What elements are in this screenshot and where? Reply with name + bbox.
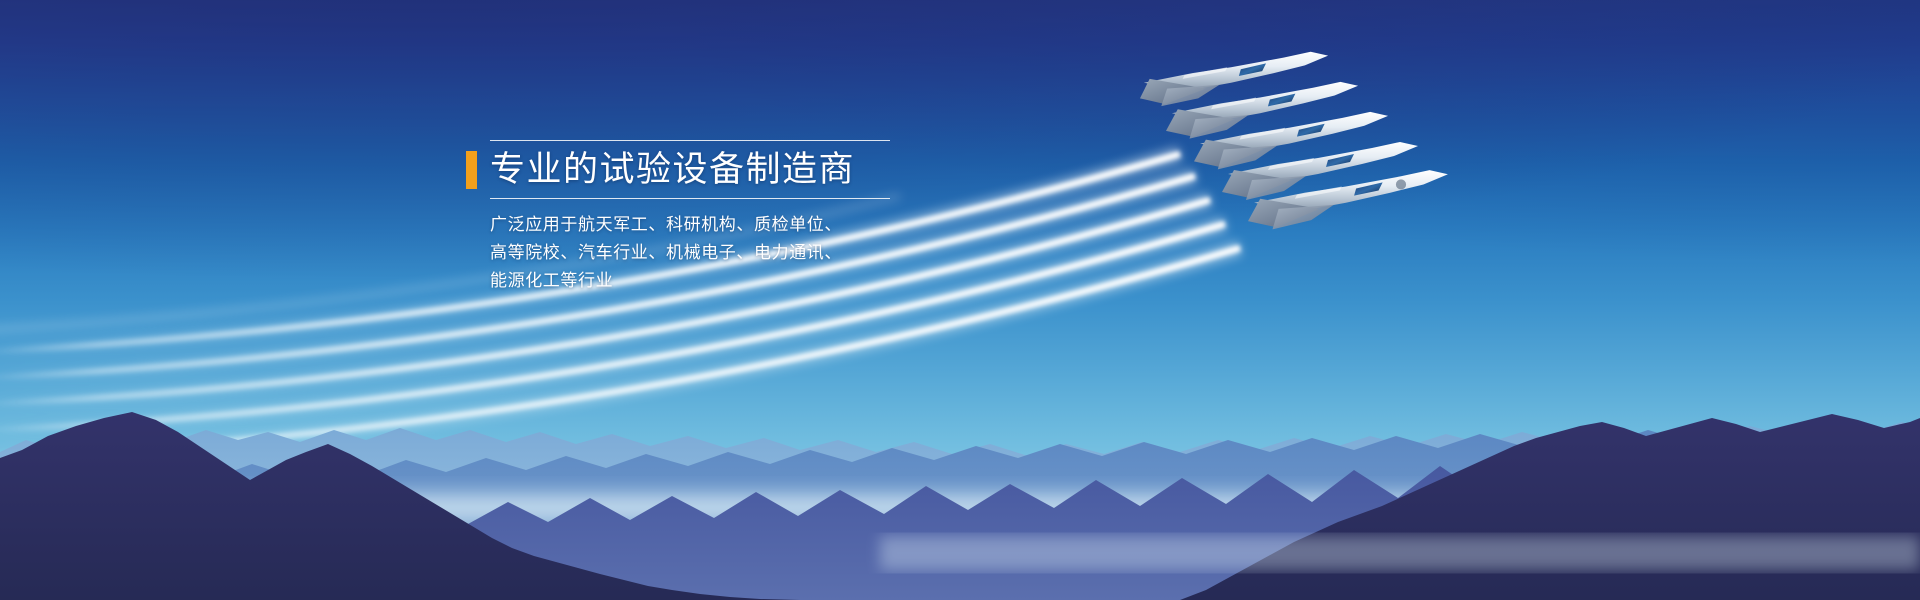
subtitle-line: 广泛应用于航天军工、科研机构、质检单位、 (490, 211, 886, 239)
subtitle-line: 高等院校、汽车行业、机械电子、电力通讯、 (490, 239, 886, 267)
accent-bar (466, 151, 477, 189)
subtitle-block: 广泛应用于航天军工、科研机构、质检单位、 高等院校、汽车行业、机械电子、电力通讯… (490, 211, 886, 295)
subtitle-line: 能源化工等行业 (490, 267, 886, 295)
headline-row: 专业的试验设备制造商 (466, 151, 886, 189)
banner-copy-block: 专业的试验设备制造商 广泛应用于航天军工、科研机构、质检单位、 高等院校、汽车行… (466, 140, 886, 295)
hero-banner: 专业的试验设备制造商 广泛应用于航天军工、科研机构、质检单位、 高等院校、汽车行… (0, 0, 1920, 600)
fighter-jet-formation (1120, 38, 1520, 268)
divider-bottom (490, 198, 890, 199)
page-title: 专业的试验设备制造商 (490, 151, 855, 189)
mountain-range-silhouette (0, 340, 1920, 600)
divider-top (490, 140, 890, 141)
